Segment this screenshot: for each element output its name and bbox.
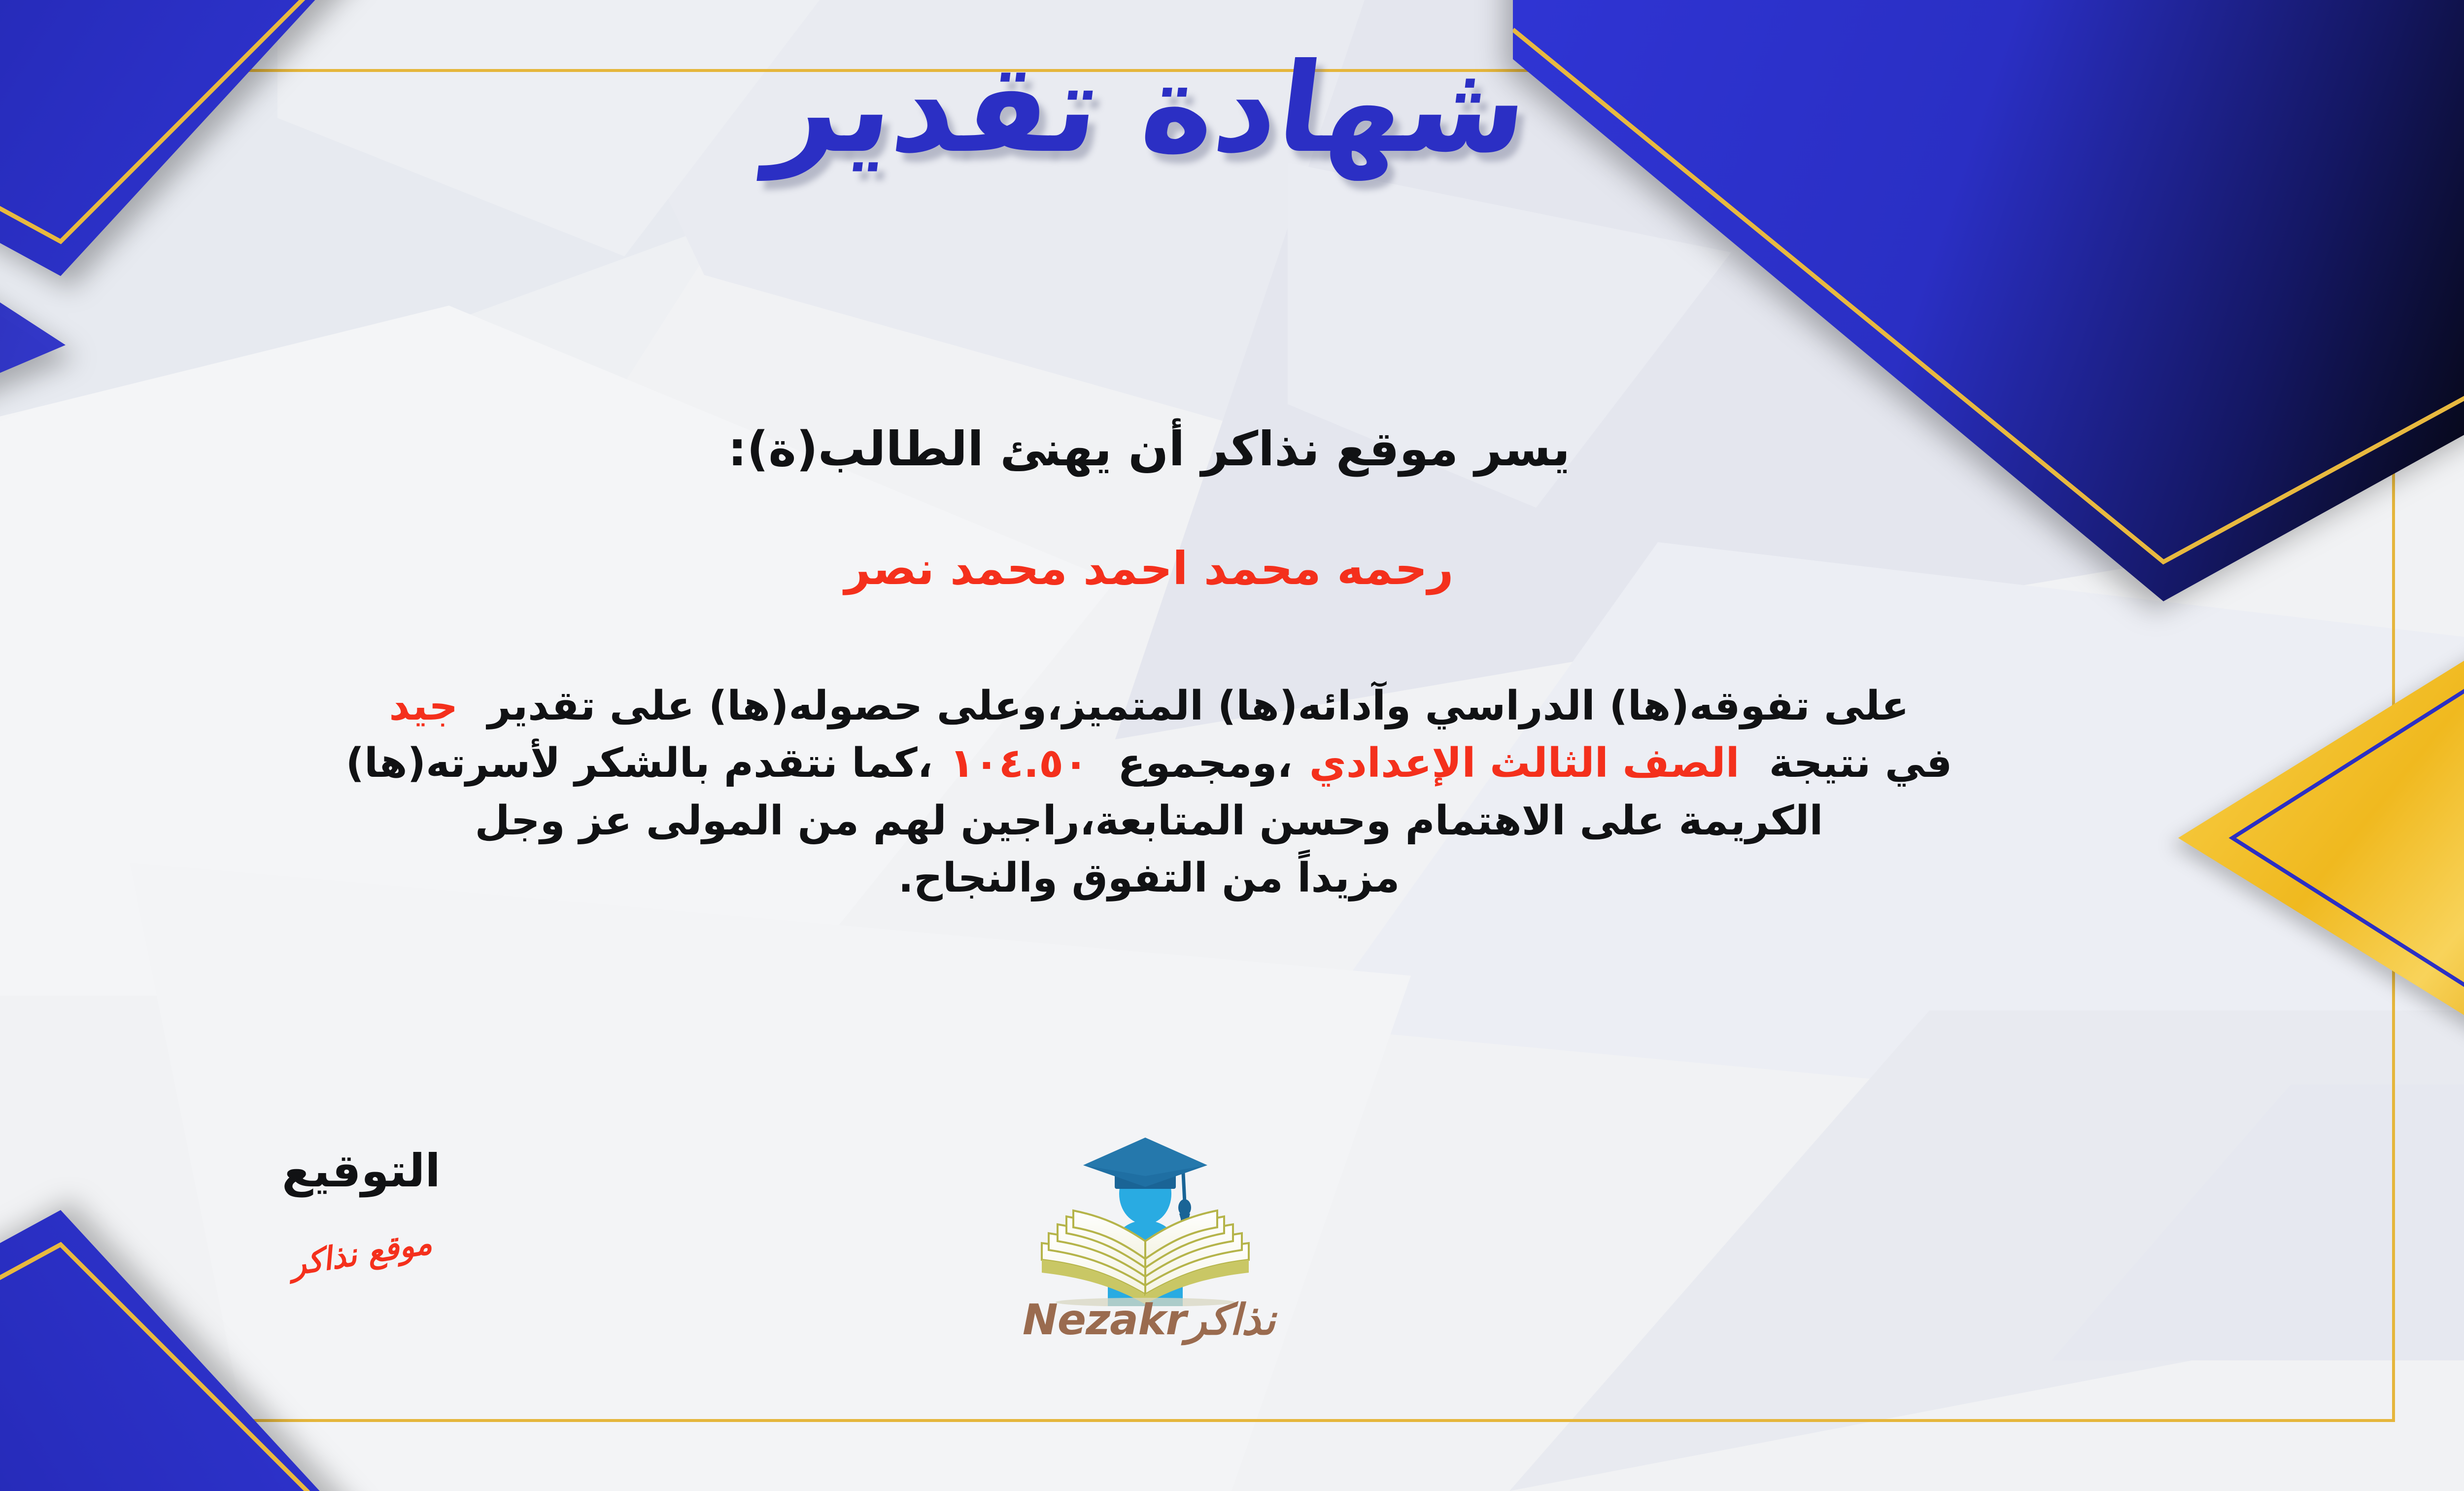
- result-prefix: في نتيجة: [1769, 740, 1952, 787]
- grade-value: جيد: [389, 683, 458, 729]
- total-label: ،ومجموع: [1118, 740, 1292, 787]
- thanks-text: ،كما نتقدم بالشكر لأسرته(ها): [346, 740, 933, 787]
- graduation-cap-open-book-icon: [1011, 1129, 1287, 1306]
- certificate-body: على تفوقه(ها) الدراسي وآدائه(ها) المتميز…: [0, 678, 2351, 907]
- site-logo: نذاكرNezakr: [972, 1129, 1327, 1345]
- certificate-title: شهادة تقدير: [0, 47, 2464, 170]
- signature-label: التوقيع: [208, 1148, 514, 1194]
- logo-arabic: نذاكر: [1186, 1295, 1275, 1345]
- signature-script: موقع نذاكر: [288, 1224, 434, 1283]
- body-line-4: مزيداً من التفوق والنجاح.: [0, 850, 2351, 907]
- body-line-3: الكريمة على الاهتمام وحسن المتابعة،راجين…: [0, 793, 2351, 850]
- greeting-line: يسر موقع نذاكر أن يهنئ الطالب(ة):: [0, 421, 2464, 477]
- certificate-content: شهادة تقدير يسر موقع نذاكر أن يهنئ الطال…: [0, 0, 2464, 1491]
- body-line-2: في نتيجةالصف الثالث الإعدادي،ومجموع١٠٤.٥…: [0, 735, 2351, 792]
- stage-value: الصف الثالث الإعدادي: [1309, 740, 1740, 787]
- student-name: رحمه محمد احمد محمد نصر: [0, 542, 2464, 595]
- body-line-1: على تفوقه(ها) الدراسي وآدائه(ها) المتميز…: [0, 678, 2351, 735]
- logo-wordmark: نذاكرNezakr: [972, 1295, 1327, 1345]
- logo-latin: Nezakr: [1023, 1295, 1186, 1345]
- body-line-1-text: على تفوقه(ها) الدراسي وآدائه(ها) المتميز…: [487, 683, 1909, 729]
- score-value: ١٠٤.٥٠: [950, 740, 1088, 787]
- signature-area: التوقيع موقع نذاكر: [208, 1148, 514, 1272]
- certificate-page: شهادة تقدير يسر موقع نذاكر أن يهنئ الطال…: [0, 0, 2464, 1491]
